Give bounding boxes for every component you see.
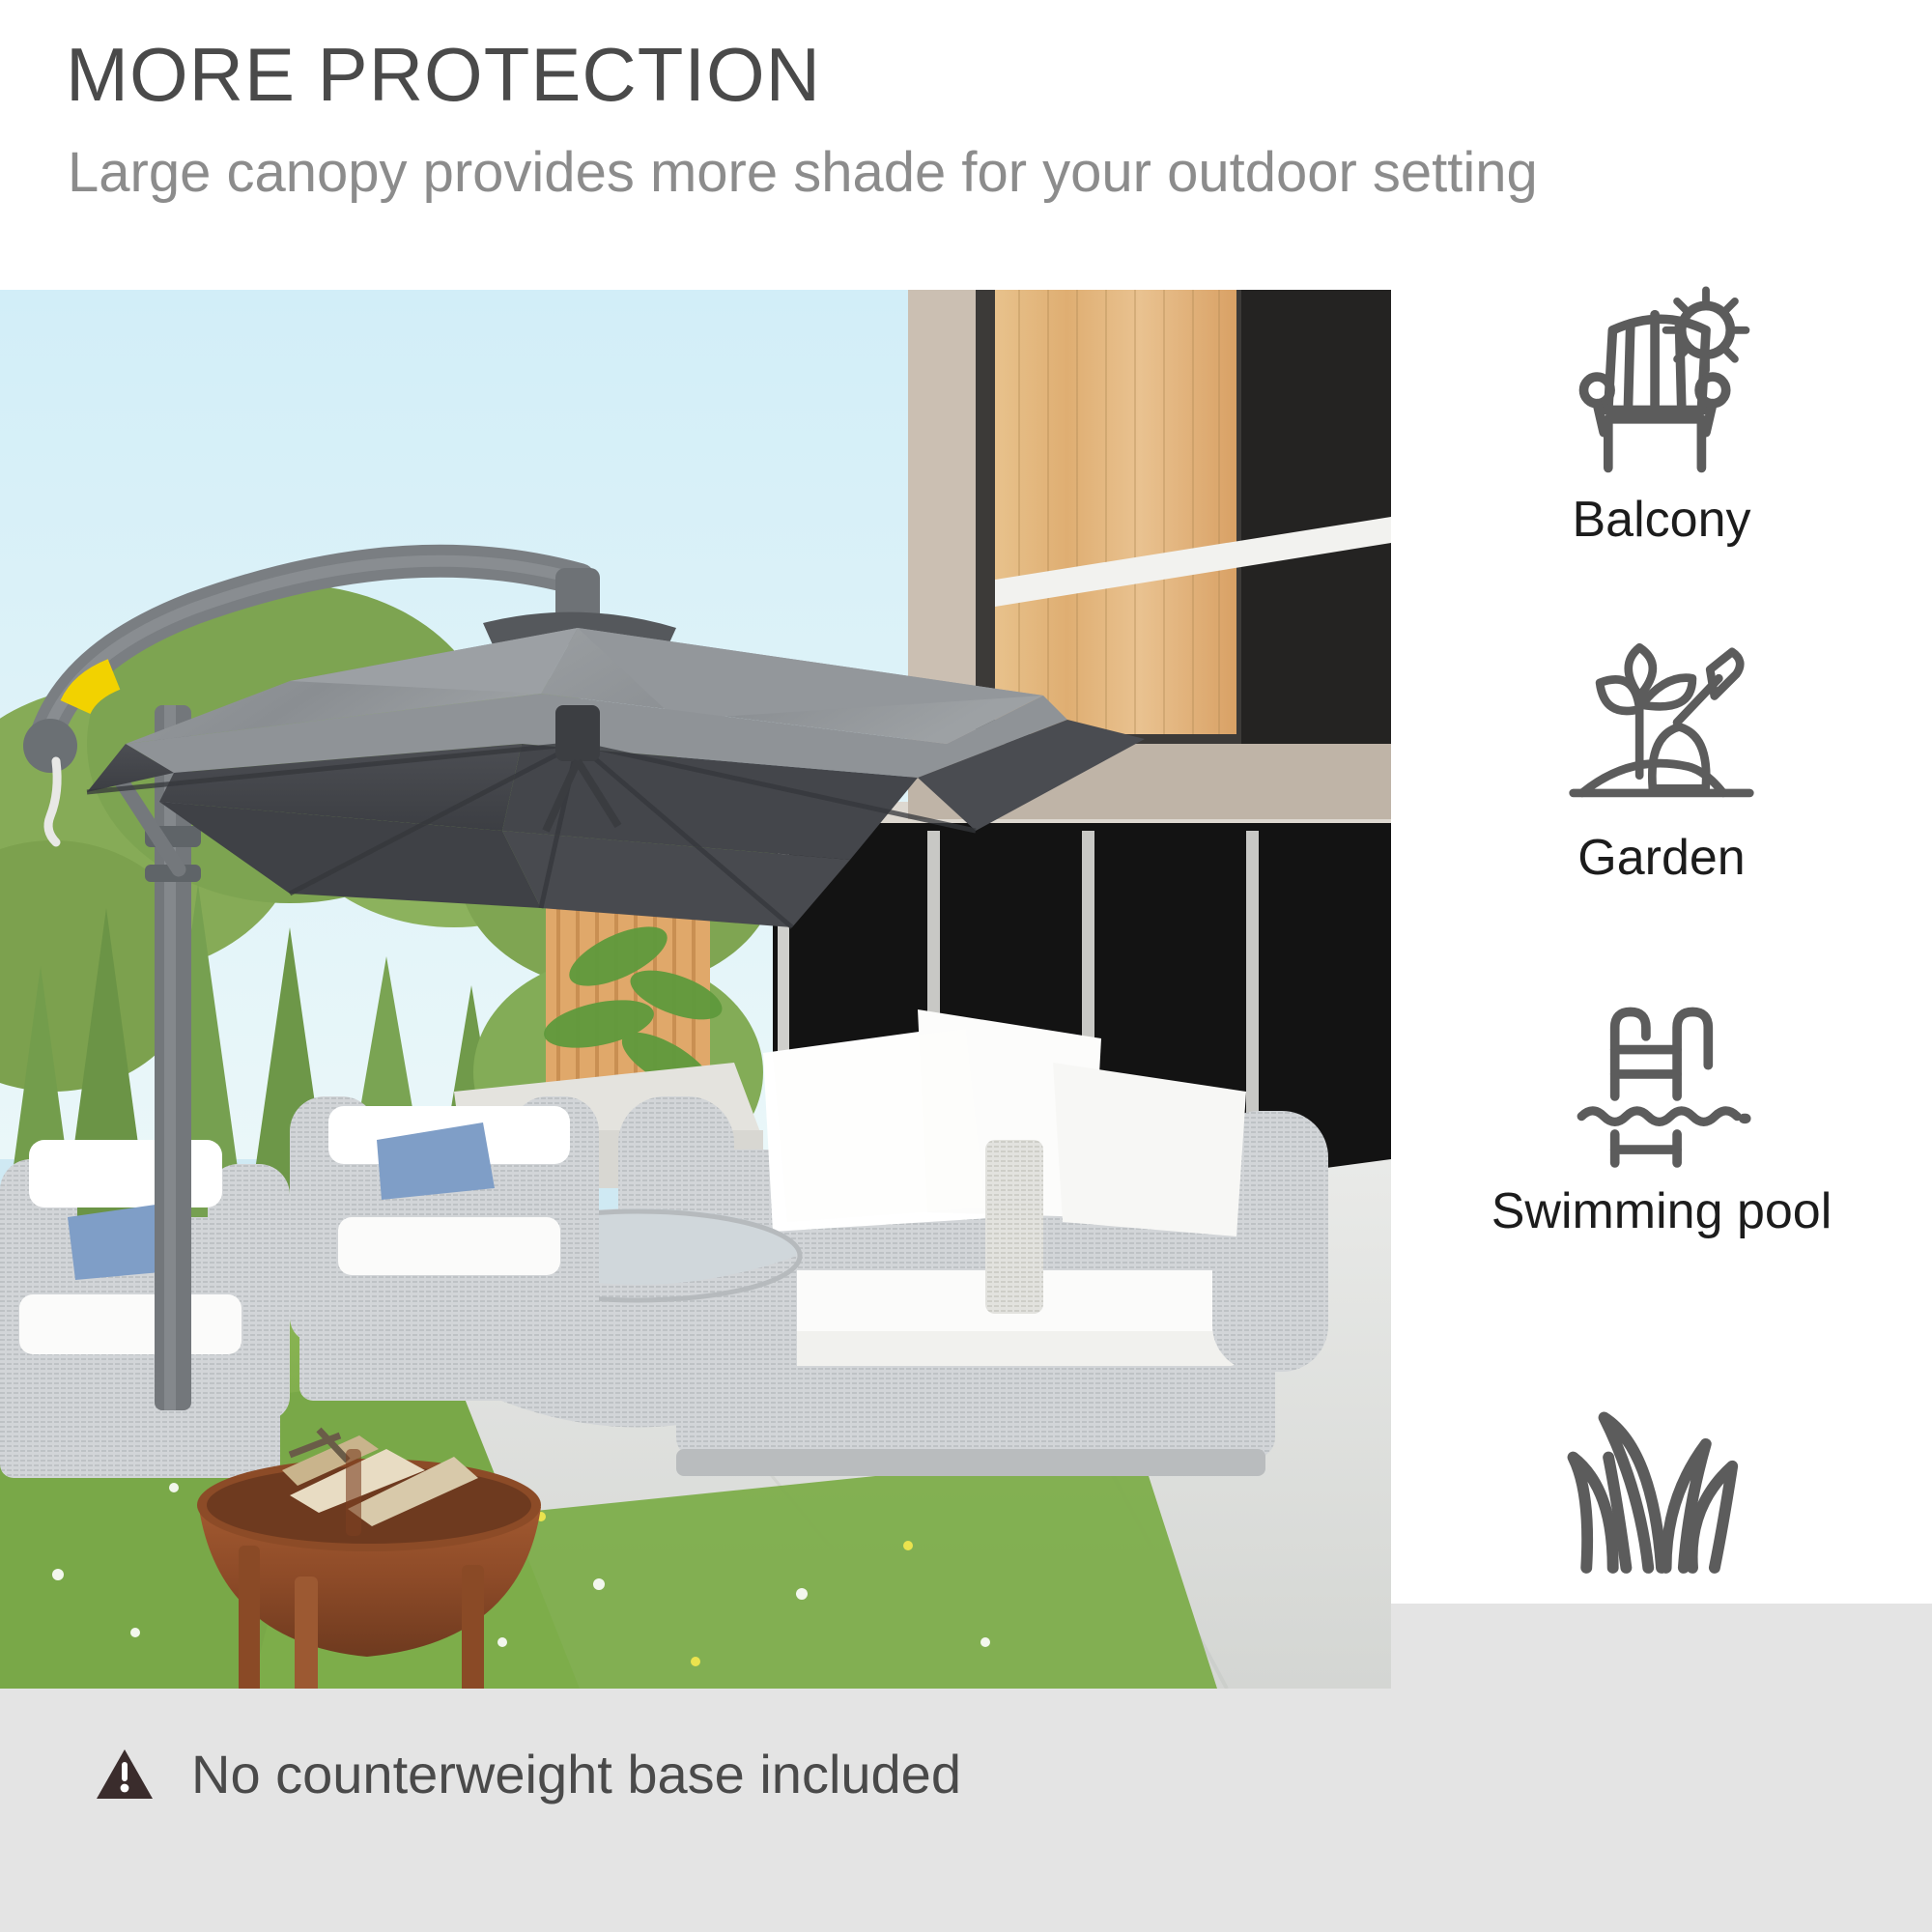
- rattan-armchair-middle: [290, 1096, 599, 1401]
- feature-label-balcony: Balcony: [1391, 495, 1932, 545]
- feature-label-swimming-pool: Swimming pool: [1391, 1186, 1932, 1236]
- rattan-side-table: [985, 1140, 1043, 1314]
- product-feature-panel: MORE PROTECTION Large canopy provides mo…: [0, 0, 1932, 1932]
- seedling-shovel-icon: [1550, 630, 1773, 833]
- feature-item-swimming-pool: Swimming pool: [1391, 993, 1932, 1236]
- feature-label-garden: Garden: [1391, 833, 1932, 883]
- adirondack-chair-sun-icon: [1550, 272, 1773, 495]
- page-subtitle: Large canopy provides more shade for you…: [68, 145, 1538, 201]
- warning-row: No counterweight base included: [95, 1747, 961, 1803]
- product-lifestyle-photo: [0, 290, 1391, 1689]
- feature-item-garden: Garden: [1391, 630, 1932, 883]
- page-title: MORE PROTECTION: [66, 37, 821, 112]
- warning-text: No counterweight base included: [191, 1747, 961, 1802]
- lawn-label-band: [1391, 1604, 1932, 1689]
- rattan-armchair-left: [0, 1140, 290, 1478]
- pool-ladder-water-icon: [1550, 993, 1773, 1186]
- feature-icon-column: Balcony Garden: [1391, 290, 1932, 1689]
- grass-blades-icon: [1550, 1391, 1773, 1599]
- header: MORE PROTECTION Large canopy provides mo…: [0, 0, 1932, 290]
- footer-disclaimer-bar: No counterweight base included: [0, 1689, 1932, 1932]
- warning-triangle-icon: [95, 1747, 155, 1803]
- feature-item-balcony: Balcony: [1391, 272, 1932, 545]
